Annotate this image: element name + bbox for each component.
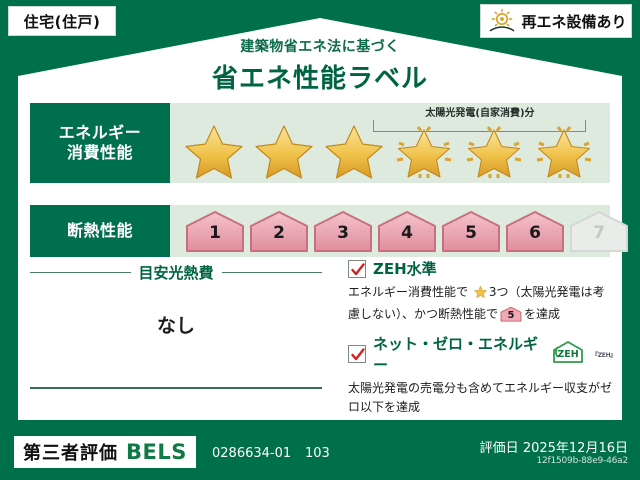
insulation-level-house: 1	[184, 209, 246, 253]
renewable-equipment-tag: 再エネ設備あり	[480, 4, 632, 38]
sun-renewable-icon	[487, 8, 517, 34]
insulation-label: 断熱性能	[67, 221, 133, 241]
insulation-level-house: 6	[504, 209, 566, 253]
claim-net-zero-energy: ネット・ゼロ・エネルギー ZEH 『ZEH』 太陽光発電の売電分も含めてエネルギ…	[348, 333, 616, 416]
bels-certificate-id: 0286634-01	[212, 446, 291, 461]
renewable-equipment-label: 再エネ設備あり	[521, 11, 626, 32]
insulation-level-house: 3	[312, 209, 374, 253]
checkbox-checked-icon[interactable]	[348, 260, 366, 278]
claim-text-before-star: エネルギー消費性能で	[348, 285, 468, 299]
third-party-evaluation-label: 第三者評価	[23, 439, 118, 465]
star-solar	[460, 120, 528, 180]
bels-logo-text: BELS	[126, 440, 187, 464]
svg-text:ZEH: ZEH	[557, 349, 578, 360]
inline-star-icon	[473, 284, 488, 305]
evaluation-date: 評価日 2025年12月16日	[480, 437, 628, 456]
housing-type-label: 住宅(住戸)	[24, 11, 101, 32]
title-block: 建築物省エネ法に基づく 省エネ性能ラベル	[0, 36, 640, 95]
insulation-level-house-inactive: 7	[568, 209, 630, 253]
claim-net-zero-energy-head: ネット・ゼロ・エネルギー ZEH 『ZEH』	[348, 333, 616, 375]
insulation-performance-label-box: 断熱性能	[30, 205, 170, 257]
energy-performance-row: エネルギー 消費性能 太陽光発電(自家消費)分	[30, 103, 610, 183]
rule-right	[222, 272, 323, 273]
insulation-level-number: 3	[312, 223, 374, 243]
utility-cost-block: 目安光熱費 なし	[30, 262, 322, 338]
housing-type-tag: 住宅(住戸)	[8, 6, 116, 36]
star-rating	[180, 119, 602, 181]
solar-bracket-caption: 太陽光発電(自家消費)分	[360, 104, 600, 119]
insulation-performance-row: 断熱性能 1 2	[30, 205, 610, 257]
claim-zeh-standard-head: ZEH水準	[348, 258, 616, 279]
energy-label-line1: エネルギー	[59, 123, 142, 143]
insulation-level-house: 4	[376, 209, 438, 253]
insulation-level-number: 2	[248, 223, 310, 243]
title-subtitle: 建築物省エネ法に基づく	[0, 36, 640, 56]
claim-net-zero-energy-title: ネット・ゼロ・エネルギー	[373, 333, 540, 375]
insulation-level-number: 1	[184, 223, 246, 243]
footer: 第三者評価 BELS 0286634-01 103 評価日 2025年12月16…	[0, 424, 640, 480]
insulation-level-house: 2	[248, 209, 310, 253]
evaluation-date-value: 2025年12月16日	[523, 441, 628, 456]
zeh-trademark-label: 『ZEH』	[592, 350, 616, 359]
claim-star-count: 3つ	[489, 285, 509, 299]
bels-serial-number: 103	[305, 446, 330, 461]
star-solar	[390, 120, 458, 180]
utility-cost-title: 目安光熱費	[139, 262, 214, 283]
insulation-level-number: 5	[440, 223, 502, 243]
claim-text-after: を達成	[524, 307, 560, 321]
energy-performance-label-box: エネルギー 消費性能	[30, 103, 170, 183]
utility-cost-value: なし	[30, 311, 322, 338]
inline-insulation-house-icon: 5	[500, 306, 522, 322]
insulation-level-house: 5	[440, 209, 502, 253]
insulation-level-number: 7	[568, 223, 630, 243]
evaluation-date-label: 評価日	[480, 441, 519, 456]
claims-block: ZEH水準 エネルギー消費性能で 3つ（太陽光発電は考慮しない）、かつ断熱性能で…	[348, 258, 616, 426]
evaluation-hash: 12f1509b-88e9-46a2	[536, 456, 628, 466]
checkbox-checked-icon[interactable]	[348, 345, 366, 363]
utility-cost-bottom-rule	[30, 387, 322, 389]
insulation-level-number: 4	[376, 223, 438, 243]
rule-left	[30, 272, 131, 273]
insulation-performance-value: 1 2 3 4	[170, 205, 610, 257]
claim-zeh-standard-body: エネルギー消費性能で 3つ（太陽光発電は考慮しない）、かつ断熱性能で 5 を達成	[348, 283, 616, 323]
star-filled	[320, 120, 388, 180]
zeh-logo-icon: ZEH	[551, 340, 585, 368]
inline-house-level: 5	[500, 308, 522, 324]
energy-performance-value: 太陽光発電(自家消費)分	[170, 103, 610, 183]
insulation-level-number: 6	[504, 223, 566, 243]
page-title: 省エネ性能ラベル	[0, 58, 640, 95]
claim-net-zero-energy-body: 太陽光発電の売電分も含めてエネルギー収支がゼロ以下を達成	[348, 379, 616, 416]
claim-zeh-standard: ZEH水準 エネルギー消費性能で 3つ（太陽光発電は考慮しない）、かつ断熱性能で…	[348, 258, 616, 323]
energy-label-line2: 消費性能	[67, 143, 133, 163]
star-filled	[180, 120, 248, 180]
insulation-level-scale: 1 2 3 4	[184, 209, 630, 253]
star-solar	[530, 120, 598, 180]
star-filled	[250, 120, 318, 180]
utility-cost-heading: 目安光熱費	[30, 262, 322, 283]
energy-performance-label: 住宅(住戸) 再エネ設備あり 建築物省エネ法に基づく 省エネ性能ラベル エネル	[0, 0, 640, 480]
claim-zeh-standard-title: ZEH水準	[373, 258, 437, 279]
bels-tag: 第三者評価 BELS	[14, 436, 196, 468]
